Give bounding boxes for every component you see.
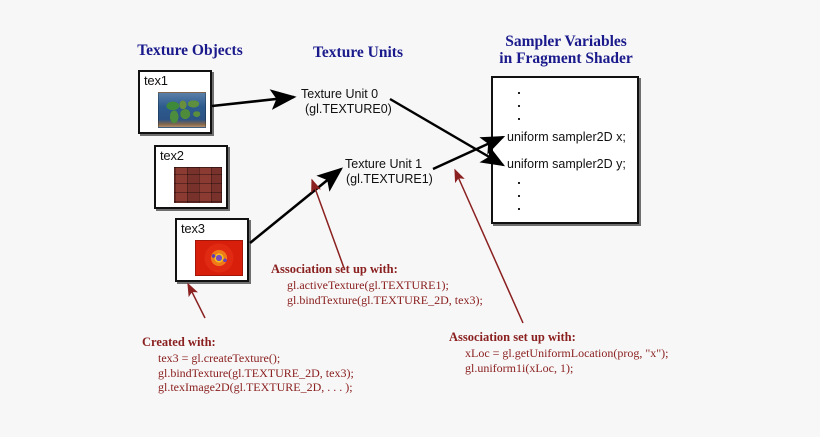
note-title: Association set up with: — [449, 330, 669, 345]
header-sampler-variables: Sampler Variables in Fragment Shader — [470, 33, 662, 67]
brick-wall-texture-icon — [174, 167, 222, 203]
texture-unit-1-name: Texture Unit 1 — [345, 157, 422, 171]
header-sampler-line1: Sampler Variables — [505, 33, 627, 50]
texture-object-tex1[interactable]: tex1 — [138, 70, 212, 134]
ellipsis-dot — [518, 118, 520, 120]
note-code-line: tex3 = gl.createTexture(); — [158, 351, 354, 366]
texture-object-label: tex1 — [144, 73, 168, 88]
diagram-canvas: Texture Objects Texture Units Sampler Va… — [0, 0, 820, 437]
header-texture-objects: Texture Objects — [124, 42, 256, 59]
ellipsis-dot — [518, 105, 520, 107]
arrow-tex1-to-unit0 — [212, 97, 294, 106]
texture-object-label: tex2 — [160, 148, 184, 163]
arrow-tex3-to-unit1 — [250, 169, 341, 243]
fractal-texture-icon — [195, 240, 243, 276]
arrow-unit0-to-sampler-y — [390, 99, 503, 165]
ellipsis-dot — [518, 92, 520, 94]
sampler-declaration-x: uniform sampler2D x; — [507, 130, 626, 144]
note-code-line: gl.texImage2D(gl.TEXTURE_2D, . . . ); — [158, 380, 354, 395]
texture-unit-0[interactable]: Texture Unit 0 (gl.TEXTURE0) — [301, 87, 392, 117]
note-sampler-association: Association set up with: xLoc = gl.getUn… — [449, 330, 669, 375]
texture-unit-1-enum: (gl.TEXTURE1) — [346, 172, 433, 187]
header-texture-units: Texture Units — [296, 44, 420, 61]
note-code-line: gl.bindTexture(gl.TEXTURE_2D, tex3); — [158, 366, 354, 381]
note-code-line: gl.uniform1i(xLoc, 1); — [465, 361, 669, 376]
note-created-with: Created with: tex3 = gl.createTexture();… — [142, 335, 354, 395]
texture-object-tex2[interactable]: tex2 — [154, 145, 228, 209]
note-code-line: xLoc = gl.getUniformLocation(prog, "x"); — [465, 346, 669, 361]
note-code-line: gl.activeTexture(gl.TEXTURE1); — [287, 278, 483, 293]
texture-unit-0-name: Texture Unit 0 — [301, 87, 378, 101]
note-code-line: gl.bindTexture(gl.TEXTURE_2D, tex3); — [287, 293, 483, 308]
note-unit-association: Association set up with: gl.activeTextur… — [271, 262, 483, 307]
header-sampler-line2: in Fragment Shader — [499, 50, 632, 67]
ellipsis-dot — [518, 195, 520, 197]
arrow-layer — [0, 0, 820, 437]
world-map-texture-icon — [158, 92, 206, 128]
arrow-note-created-with — [188, 284, 205, 318]
note-title: Association set up with: — [271, 262, 483, 277]
note-title: Created with: — [142, 335, 354, 350]
sampler-variables-box: uniform sampler2D x; uniform sampler2D y… — [491, 76, 639, 224]
ellipsis-dot — [518, 182, 520, 184]
ellipsis-dot — [518, 208, 520, 210]
texture-unit-0-enum: (gl.TEXTURE0) — [305, 102, 392, 117]
sampler-declaration-y: uniform sampler2D y; — [507, 157, 626, 171]
texture-object-label: tex3 — [181, 221, 205, 236]
texture-unit-1[interactable]: Texture Unit 1 (gl.TEXTURE1) — [345, 157, 433, 187]
texture-object-tex3[interactable]: tex3 — [175, 218, 249, 282]
arrow-note-unit-association — [312, 180, 344, 268]
